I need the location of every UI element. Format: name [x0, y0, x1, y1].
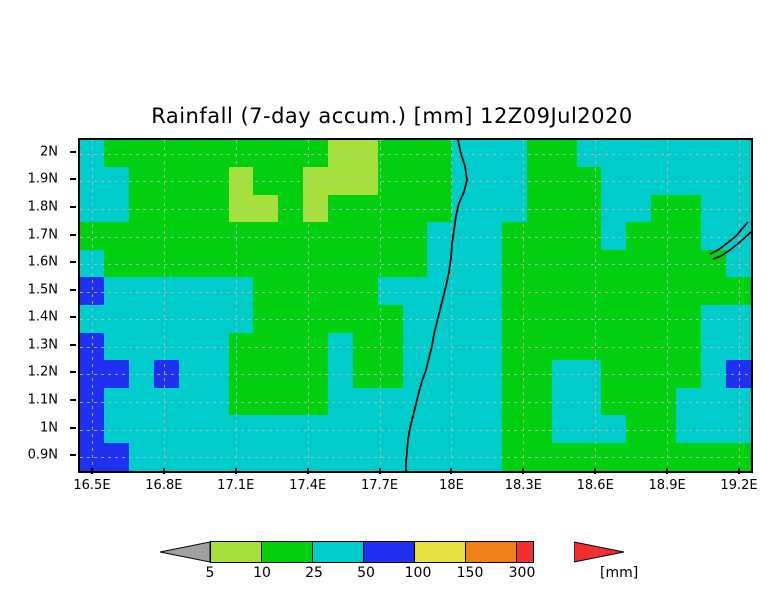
x-axis-tick-mark [594, 468, 596, 474]
grid-cell [80, 388, 106, 417]
grid-cell [577, 250, 603, 279]
grid-cell [179, 250, 205, 279]
grid-cell [129, 333, 155, 362]
grid-cell [701, 222, 727, 251]
grid-cell [477, 140, 503, 169]
grid-cell [204, 443, 230, 472]
grid-cell [278, 222, 304, 251]
grid-cell [477, 415, 503, 444]
y-axis-tick-mark [70, 371, 76, 373]
grid-cell [403, 360, 429, 389]
grid-cell [502, 305, 528, 334]
x-axis-tick-mark [163, 468, 165, 474]
grid-cell [129, 305, 155, 334]
x-axis-tick-label: 19.2E [720, 478, 757, 493]
grid-cell [229, 222, 255, 251]
grid-cell [726, 388, 752, 417]
grid-cell [726, 195, 752, 224]
y-axis-tick-label: 1.1N [28, 393, 58, 408]
grid-cell [353, 443, 379, 472]
x-axis-tick-label: 18E [439, 478, 464, 493]
grid-cell [80, 250, 106, 279]
grid-cell [129, 222, 155, 251]
grid-cell [204, 222, 230, 251]
grid-cell [129, 277, 155, 306]
grid-cell [229, 333, 255, 362]
grid-cell [403, 140, 429, 169]
grid-cell [552, 167, 578, 196]
grid-cell [378, 415, 404, 444]
grid-cell [651, 360, 677, 389]
colorbar-left-arrow [160, 541, 210, 563]
grid-cell [303, 250, 329, 279]
grid-cell [403, 388, 429, 417]
grid-cell [651, 443, 677, 472]
grid-cell [601, 250, 627, 279]
grid-cell [129, 140, 155, 169]
grid-cell [229, 167, 255, 196]
grid-cell [577, 333, 603, 362]
grid-cell [328, 388, 354, 417]
grid-cell [154, 195, 180, 224]
x-axis-tick-mark [522, 468, 524, 474]
grid-cell [477, 277, 503, 306]
y-axis-tick-mark [70, 206, 76, 208]
colorbar-right-arrow [574, 541, 624, 563]
grid-cell [328, 167, 354, 196]
grid-cell [154, 305, 180, 334]
grid-cell [527, 250, 553, 279]
grid-cell [701, 250, 727, 279]
grid-cell [626, 333, 652, 362]
grid-cell [552, 222, 578, 251]
map-plot-area[interactable] [78, 138, 753, 473]
colorbar-band [210, 541, 262, 563]
grid-cell [80, 167, 106, 196]
grid-cell [403, 167, 429, 196]
grid-cell [527, 415, 553, 444]
grid-cell [253, 360, 279, 389]
grid-cell [601, 222, 627, 251]
grid-cell [253, 443, 279, 472]
grid-cell [726, 360, 752, 389]
grid-cell [353, 222, 379, 251]
grid-cell [303, 388, 329, 417]
grid-cell [701, 305, 727, 334]
grid-cell [253, 250, 279, 279]
grid-cell [676, 195, 702, 224]
grid-cell [452, 195, 478, 224]
y-axis: 2N1.9N1.8N1.7N1.6N1.5N1.4N1.3N1.2N1.1N1N… [0, 138, 72, 473]
grid-cell [229, 250, 255, 279]
colorbar-band [465, 541, 517, 563]
colorbar-tick-label: 300 [509, 565, 536, 581]
grid-cell [577, 167, 603, 196]
colorbar-tick-label: 150 [457, 565, 484, 581]
grid-cell [104, 167, 130, 196]
grid-cell [427, 333, 453, 362]
grid-cell [626, 222, 652, 251]
grid-cell [80, 195, 106, 224]
colorbar-tick-label: 50 [357, 565, 375, 581]
grid-cell [452, 333, 478, 362]
grid-cell [278, 140, 304, 169]
grid-cell [154, 333, 180, 362]
grid-cell [502, 360, 528, 389]
grid-cell [204, 140, 230, 169]
colorbar[interactable]: 5102550100150300 [mm] [0, 536, 784, 596]
grid-cell [626, 167, 652, 196]
grid-cell [154, 222, 180, 251]
grid-cell [229, 195, 255, 224]
grid-cell [403, 195, 429, 224]
grid-cell [651, 195, 677, 224]
grid-cell [328, 195, 354, 224]
x-axis-tick-mark [307, 468, 309, 474]
grid-cell [427, 140, 453, 169]
grid-cell [452, 443, 478, 472]
grid-cell [378, 195, 404, 224]
grid-cell [452, 167, 478, 196]
grid-cell [577, 277, 603, 306]
grid-cell [80, 222, 106, 251]
grid-cell [80, 360, 106, 389]
grid-cell [651, 333, 677, 362]
grid-cell [378, 277, 404, 306]
grid-cell [527, 333, 553, 362]
grid-cell [701, 415, 727, 444]
x-axis-tick-mark [379, 468, 381, 474]
grid-cell [552, 277, 578, 306]
grid-cell [253, 333, 279, 362]
grid-cell [278, 195, 304, 224]
x-axis-tick-label: 18.9E [649, 478, 686, 493]
grid-cell [502, 250, 528, 279]
x-axis-tick-label: 16.8E [145, 478, 182, 493]
x-axis: 16.5E16.8E17.1E17.4E17.7E18E18.3E18.6E18… [78, 474, 753, 500]
grid-cell [552, 415, 578, 444]
grid-cell [427, 415, 453, 444]
grid-cell [726, 250, 752, 279]
grid-cell [253, 140, 279, 169]
y-axis-tick-label: 1.5N [28, 282, 58, 297]
colorbar-segments [210, 541, 534, 563]
grid-cell [253, 277, 279, 306]
grid-cell [676, 250, 702, 279]
grid-cell [477, 333, 503, 362]
grid-cell [328, 222, 354, 251]
grid-cell [651, 388, 677, 417]
grid-cell [179, 167, 205, 196]
grid-cell [601, 277, 627, 306]
grid-cell [80, 415, 106, 444]
grid-cell [427, 388, 453, 417]
grid-cell [477, 167, 503, 196]
grid-cell [278, 415, 304, 444]
grid-cell [477, 360, 503, 389]
grid-cell [403, 443, 429, 472]
grid-cell [452, 415, 478, 444]
grid-cell [502, 388, 528, 417]
grid-cell [577, 305, 603, 334]
y-axis-tick-mark [70, 151, 76, 153]
y-axis-tick-label: 1.8N [28, 199, 58, 214]
grid-cell [204, 415, 230, 444]
grid-cell [552, 250, 578, 279]
grid-cell [577, 195, 603, 224]
grid-cell [204, 250, 230, 279]
grid-cell [328, 140, 354, 169]
grid-cell [601, 140, 627, 169]
grid-cell [278, 305, 304, 334]
grid-cell [477, 443, 503, 472]
grid-cell [80, 305, 106, 334]
grid-cell [104, 195, 130, 224]
grid-cell [328, 415, 354, 444]
grid-cell [726, 222, 752, 251]
grid-cell [104, 222, 130, 251]
grid-cell [278, 360, 304, 389]
grid-cell [726, 415, 752, 444]
grid-cell [328, 360, 354, 389]
grid-cell [278, 250, 304, 279]
grid-cell [477, 222, 503, 251]
grid-cell [701, 140, 727, 169]
grid-cell [378, 443, 404, 472]
colorbar-band [414, 541, 466, 563]
grid-cell [527, 443, 553, 472]
grid-cell [676, 277, 702, 306]
grid-cell [154, 443, 180, 472]
grid-cell [154, 415, 180, 444]
grid-cell [378, 305, 404, 334]
grid-cell [154, 277, 180, 306]
grid-cell [527, 167, 553, 196]
grid-cell [378, 222, 404, 251]
grid-cell [154, 388, 180, 417]
grid-cell [502, 222, 528, 251]
grid-cell [104, 333, 130, 362]
grid-cell [651, 140, 677, 169]
grid-cell [353, 195, 379, 224]
grid-cell [154, 250, 180, 279]
grid-cell [303, 195, 329, 224]
grid-cell [403, 333, 429, 362]
grid-cell [601, 360, 627, 389]
grid-cell [303, 333, 329, 362]
grid-cell [403, 222, 429, 251]
grid-cell [701, 167, 727, 196]
colorbar-tick-label: 100 [405, 565, 432, 581]
grid-cell [204, 195, 230, 224]
grid-cell [601, 415, 627, 444]
grid-cell [253, 415, 279, 444]
grid-cell [676, 305, 702, 334]
grid-cell [527, 195, 553, 224]
grid-cell [527, 305, 553, 334]
grid-cell [577, 388, 603, 417]
x-axis-tick-label: 17.4E [289, 478, 326, 493]
grid-cell [626, 140, 652, 169]
grid-cell [104, 443, 130, 472]
y-axis-tick-label: 0.9N [28, 448, 58, 463]
grid-cell [403, 277, 429, 306]
grid-cell [427, 250, 453, 279]
x-axis-tick-mark [666, 468, 668, 474]
grid-cell [353, 167, 379, 196]
grid-cell [726, 167, 752, 196]
y-axis-tick-mark [70, 316, 76, 318]
grid-cell [179, 360, 205, 389]
grid-cell [701, 277, 727, 306]
grid-cell [577, 140, 603, 169]
grid-cell [651, 250, 677, 279]
grid-cell [427, 167, 453, 196]
y-axis-tick-label: 1.2N [28, 365, 58, 380]
grid-cell [552, 388, 578, 417]
colorbar-tick-label: 25 [305, 565, 323, 581]
grid-cell [229, 415, 255, 444]
grid-cell [204, 388, 230, 417]
grid-cell [502, 140, 528, 169]
grid-cell [378, 167, 404, 196]
x-axis-tick-mark [91, 468, 93, 474]
colorbar-tick-label: 10 [253, 565, 271, 581]
grid-cell [527, 360, 553, 389]
grid-cell [253, 195, 279, 224]
grid-cell [353, 140, 379, 169]
y-axis-tick-label: 1.6N [28, 255, 58, 270]
grid-cell [726, 333, 752, 362]
grid-cell [353, 250, 379, 279]
grid-cell [179, 305, 205, 334]
grid-cell [204, 167, 230, 196]
grid-cell [626, 250, 652, 279]
y-axis-tick-mark [70, 344, 76, 346]
grid-cell [353, 360, 379, 389]
grid-cell [552, 195, 578, 224]
grid-cell [577, 415, 603, 444]
grid-cell [701, 333, 727, 362]
grid-cell [229, 140, 255, 169]
grid-cell [427, 277, 453, 306]
grid-cell [676, 167, 702, 196]
grid-cell [303, 305, 329, 334]
grid-cell [104, 305, 130, 334]
grid-cell [676, 443, 702, 472]
grid-cell [452, 388, 478, 417]
grid-cell [676, 333, 702, 362]
grid-cell [378, 250, 404, 279]
grid-cell [477, 388, 503, 417]
colorbar-band [261, 541, 313, 563]
grid-cell [353, 277, 379, 306]
grid-cell [278, 443, 304, 472]
grid-cell [427, 360, 453, 389]
grid-cell [154, 167, 180, 196]
grid-cell [129, 415, 155, 444]
y-axis-tick-mark [70, 261, 76, 263]
grid-cell [278, 333, 304, 362]
grid-cell [452, 222, 478, 251]
grid-cell [328, 250, 354, 279]
grid-cell [601, 305, 627, 334]
grid-cell [427, 222, 453, 251]
grid-cell [601, 443, 627, 472]
grid-cell [651, 277, 677, 306]
grid-cell [229, 443, 255, 472]
grid-cell [303, 277, 329, 306]
grid-cell [104, 388, 130, 417]
grid-cell [253, 388, 279, 417]
grid-cell [626, 277, 652, 306]
grid-cell [328, 305, 354, 334]
x-axis-tick-label: 17.1E [217, 478, 254, 493]
grid-cell [154, 360, 180, 389]
grid-cell [676, 415, 702, 444]
grid-cell [179, 222, 205, 251]
grid-cell [303, 140, 329, 169]
grid-cell [577, 222, 603, 251]
grid-cell [403, 415, 429, 444]
y-axis-tick-mark [70, 178, 76, 180]
grid-cell [676, 140, 702, 169]
grid-cell [626, 388, 652, 417]
grid-cell [452, 360, 478, 389]
grid-cell [626, 305, 652, 334]
x-axis-tick-label: 17.7E [361, 478, 398, 493]
grid-cell [726, 140, 752, 169]
grid-cell [552, 305, 578, 334]
y-axis-tick-label: 1.3N [28, 337, 58, 352]
grid-cell [477, 250, 503, 279]
grid-cell [477, 195, 503, 224]
grid-cell [104, 140, 130, 169]
y-axis-tick-mark [70, 399, 76, 401]
grid-cell [104, 250, 130, 279]
grid-cell [403, 305, 429, 334]
grid-cell [701, 195, 727, 224]
grid-cell [303, 360, 329, 389]
grid-cell [179, 388, 205, 417]
grid-cell [229, 360, 255, 389]
grid-cell [328, 443, 354, 472]
x-axis-tick-label: 18.3E [505, 478, 542, 493]
grid-cell [452, 277, 478, 306]
grid-cell [676, 388, 702, 417]
grid-cell [577, 360, 603, 389]
grid-cell [651, 167, 677, 196]
grid-cell [353, 415, 379, 444]
grid-cell [353, 388, 379, 417]
grid-cell [278, 388, 304, 417]
grid-cell [502, 277, 528, 306]
grid-cell [452, 250, 478, 279]
y-axis-tick-label: 1.4N [28, 310, 58, 325]
grid-cell [179, 443, 205, 472]
grid-cell [601, 333, 627, 362]
grid-cell [601, 167, 627, 196]
grid-cell [701, 388, 727, 417]
grid-cell [502, 195, 528, 224]
grid-cell [80, 333, 106, 362]
grid-cell [303, 415, 329, 444]
grid-cell [229, 305, 255, 334]
grid-cell [626, 360, 652, 389]
grid-cell [179, 277, 205, 306]
grid-cell [626, 195, 652, 224]
grid-cell [403, 250, 429, 279]
